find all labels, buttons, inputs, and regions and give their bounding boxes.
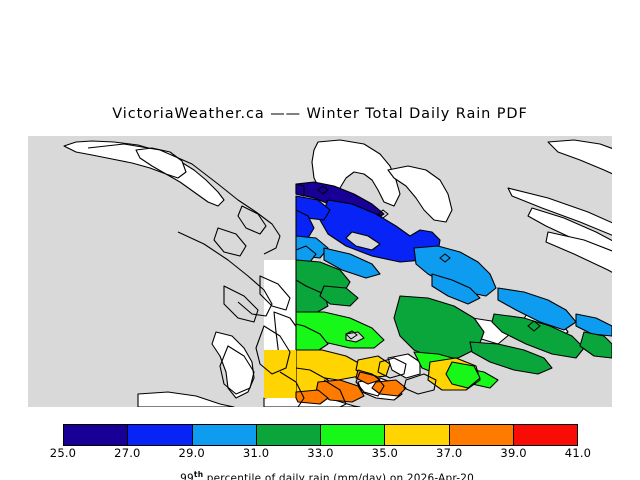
colorbar-segment-1[interactable]: [128, 425, 192, 445]
page-title: VictoriaWeather.ca —— Winter Total Daily…: [0, 106, 640, 122]
colorbar-segment-6[interactable]: [450, 425, 514, 445]
colorbar-segments[interactable]: [63, 424, 578, 446]
colorbar-segment-3[interactable]: [257, 425, 321, 445]
colorbar-caption: 99th percentile of daily rain (mm/day) o…: [0, 458, 640, 480]
colorbar-segment-0[interactable]: [64, 425, 128, 445]
caption-prefix: 99: [180, 473, 194, 480]
caption-suffix: percentile of daily rain (mm/day) on 202…: [203, 473, 474, 480]
colorbar-segment-2[interactable]: [193, 425, 257, 445]
colorbar[interactable]: [63, 424, 578, 446]
colorbar-segment-7[interactable]: [514, 425, 577, 445]
colorbar-segment-4[interactable]: [321, 425, 385, 445]
weather-map-page: VictoriaWeather.ca —— Winter Total Daily…: [0, 0, 640, 480]
caption-superscript: th: [194, 470, 203, 479]
colorbar-segment-5[interactable]: [385, 425, 449, 445]
region-southwest-strip: [264, 350, 296, 398]
map-canvas[interactable]: [28, 136, 612, 407]
region-far-north-edge: [296, 184, 304, 196]
map-panel[interactable]: [28, 136, 612, 407]
